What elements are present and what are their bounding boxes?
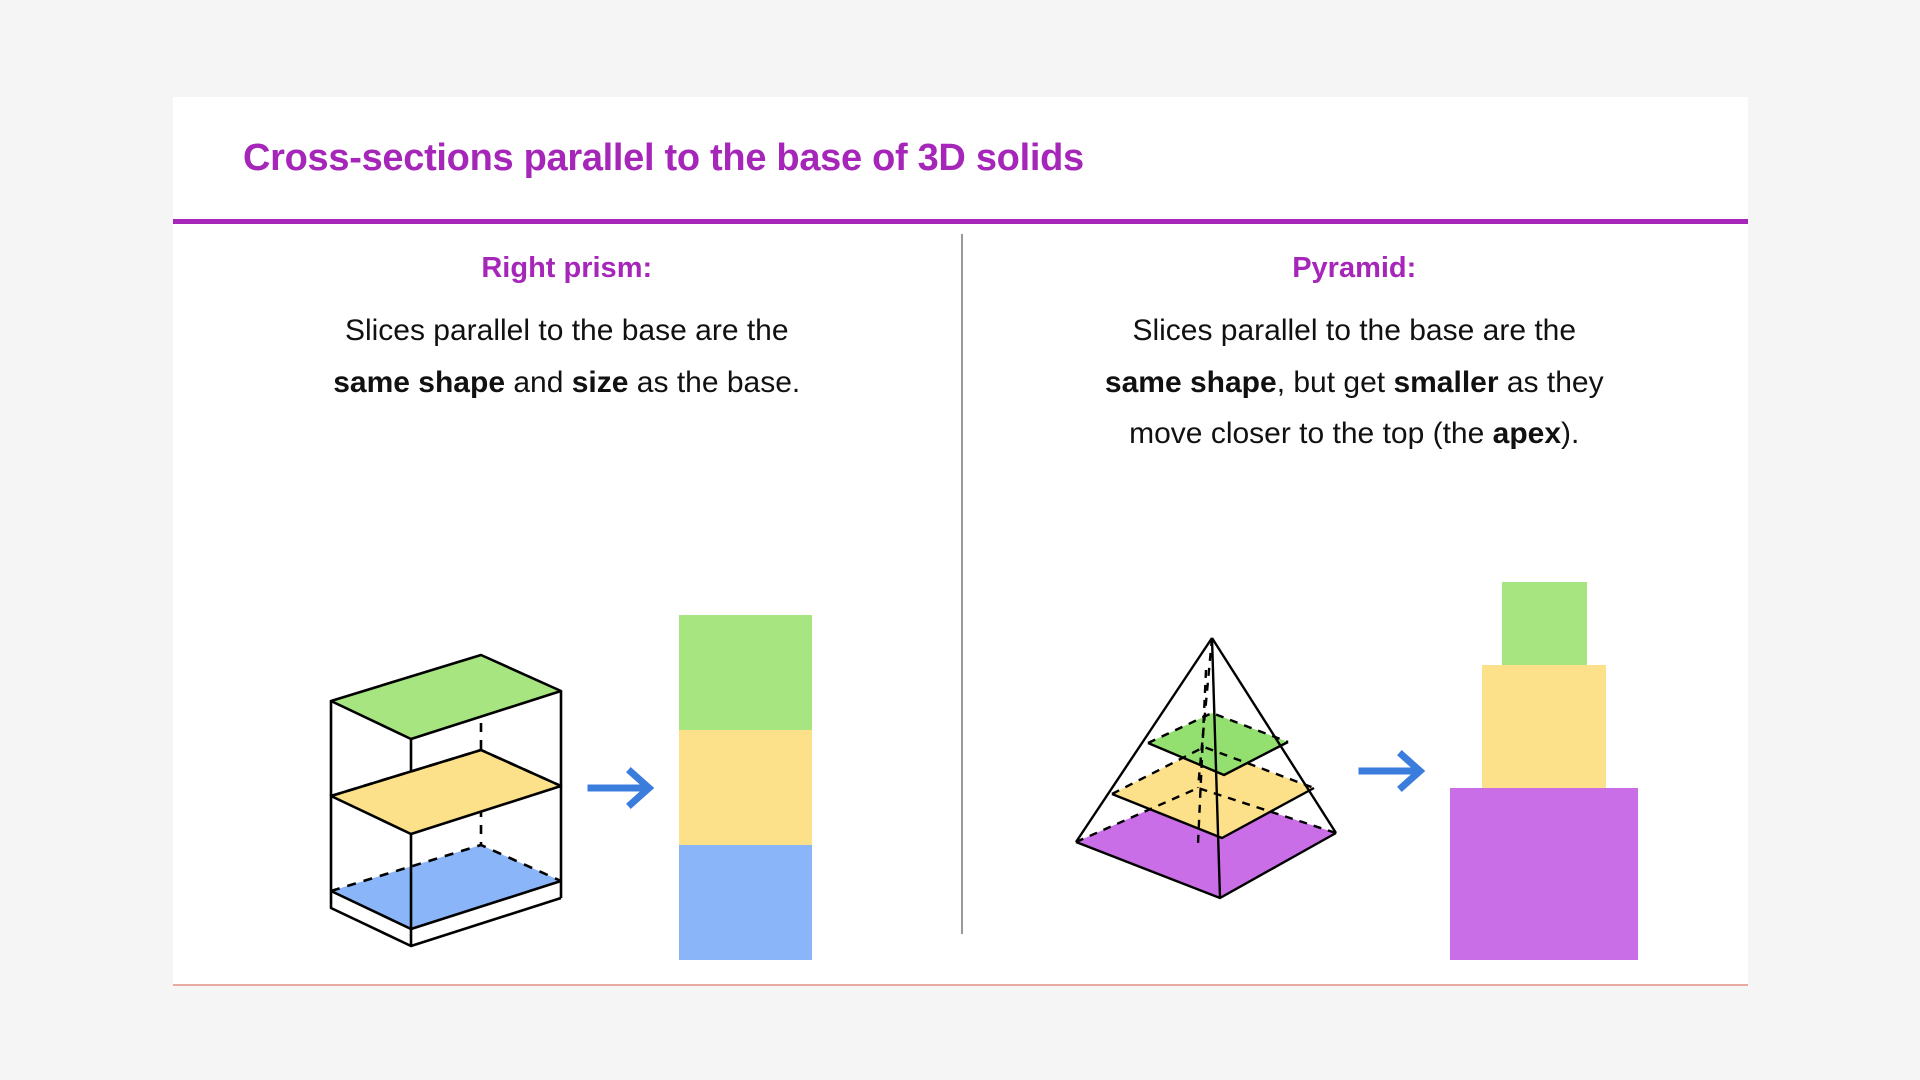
left-body-strong-2: size <box>572 366 629 399</box>
right-body-line-3-pre: move closer to the top (the <box>1129 417 1493 450</box>
stack-slab-yellow <box>679 730 812 845</box>
left-slice-stack <box>679 615 812 960</box>
right-column-heading: Pyramid: <box>1292 252 1416 285</box>
left-body-mid: and <box>505 366 572 399</box>
right-body-mid: , but get <box>1277 366 1394 399</box>
left-column-heading: Right prism: <box>481 252 652 285</box>
prism-base-slice-fill <box>331 845 561 929</box>
square-pyramid-figure <box>1070 630 1342 912</box>
square-pyramid-svg <box>1070 630 1342 912</box>
right-slice-stack <box>1450 582 1638 960</box>
left-arrow <box>589 766 661 810</box>
right-body-mid-2: as they <box>1499 366 1604 399</box>
columns-container: Right prism: Slices parallel to the base… <box>173 224 1748 986</box>
column-divider <box>961 234 963 934</box>
right-prism-figure <box>321 623 571 953</box>
column-right-prism: Right prism: Slices parallel to the base… <box>173 224 961 986</box>
stack-slab-green-small <box>1502 582 1587 665</box>
left-figure-row <box>197 615 937 960</box>
stack-slab-blue <box>679 845 812 960</box>
right-body-line-3-post: ). <box>1561 417 1579 450</box>
stack-slab-green <box>679 615 812 730</box>
prism-middle-slice <box>331 750 561 834</box>
right-body-strong-2: smaller <box>1393 366 1498 399</box>
left-body-line-1: Slices parallel to the base are the <box>345 314 789 347</box>
right-prism-svg <box>321 623 571 953</box>
right-arrow <box>1360 749 1432 793</box>
left-body-tail: as the base. <box>628 366 800 399</box>
right-column-body: Slices parallel to the base are the same… <box>1105 305 1604 460</box>
lesson-card: Cross-sections parallel to the base of 3… <box>173 97 1748 986</box>
card-header: Cross-sections parallel to the base of 3… <box>173 97 1748 219</box>
stack-slab-yellow-medium <box>1482 665 1606 788</box>
page-title: Cross-sections parallel to the base of 3… <box>243 137 1084 180</box>
prism-top-face <box>331 655 561 739</box>
stack-slab-purple-large <box>1450 788 1638 960</box>
right-body-strong-3: apex <box>1493 417 1561 450</box>
right-body-strong-1: same shape <box>1105 366 1277 399</box>
right-arrow-icon <box>589 766 661 810</box>
page-root: Cross-sections parallel to the base of 3… <box>0 0 1920 1080</box>
left-body-strong-1: same shape <box>333 366 505 399</box>
right-arrow-icon <box>1360 749 1432 793</box>
column-pyramid: Pyramid: Slices parallel to the base are… <box>961 224 1749 986</box>
right-body-line-1: Slices parallel to the base are the <box>1132 314 1576 347</box>
right-figure-row <box>985 582 1725 960</box>
left-column-body: Slices parallel to the base are the same… <box>333 305 800 408</box>
